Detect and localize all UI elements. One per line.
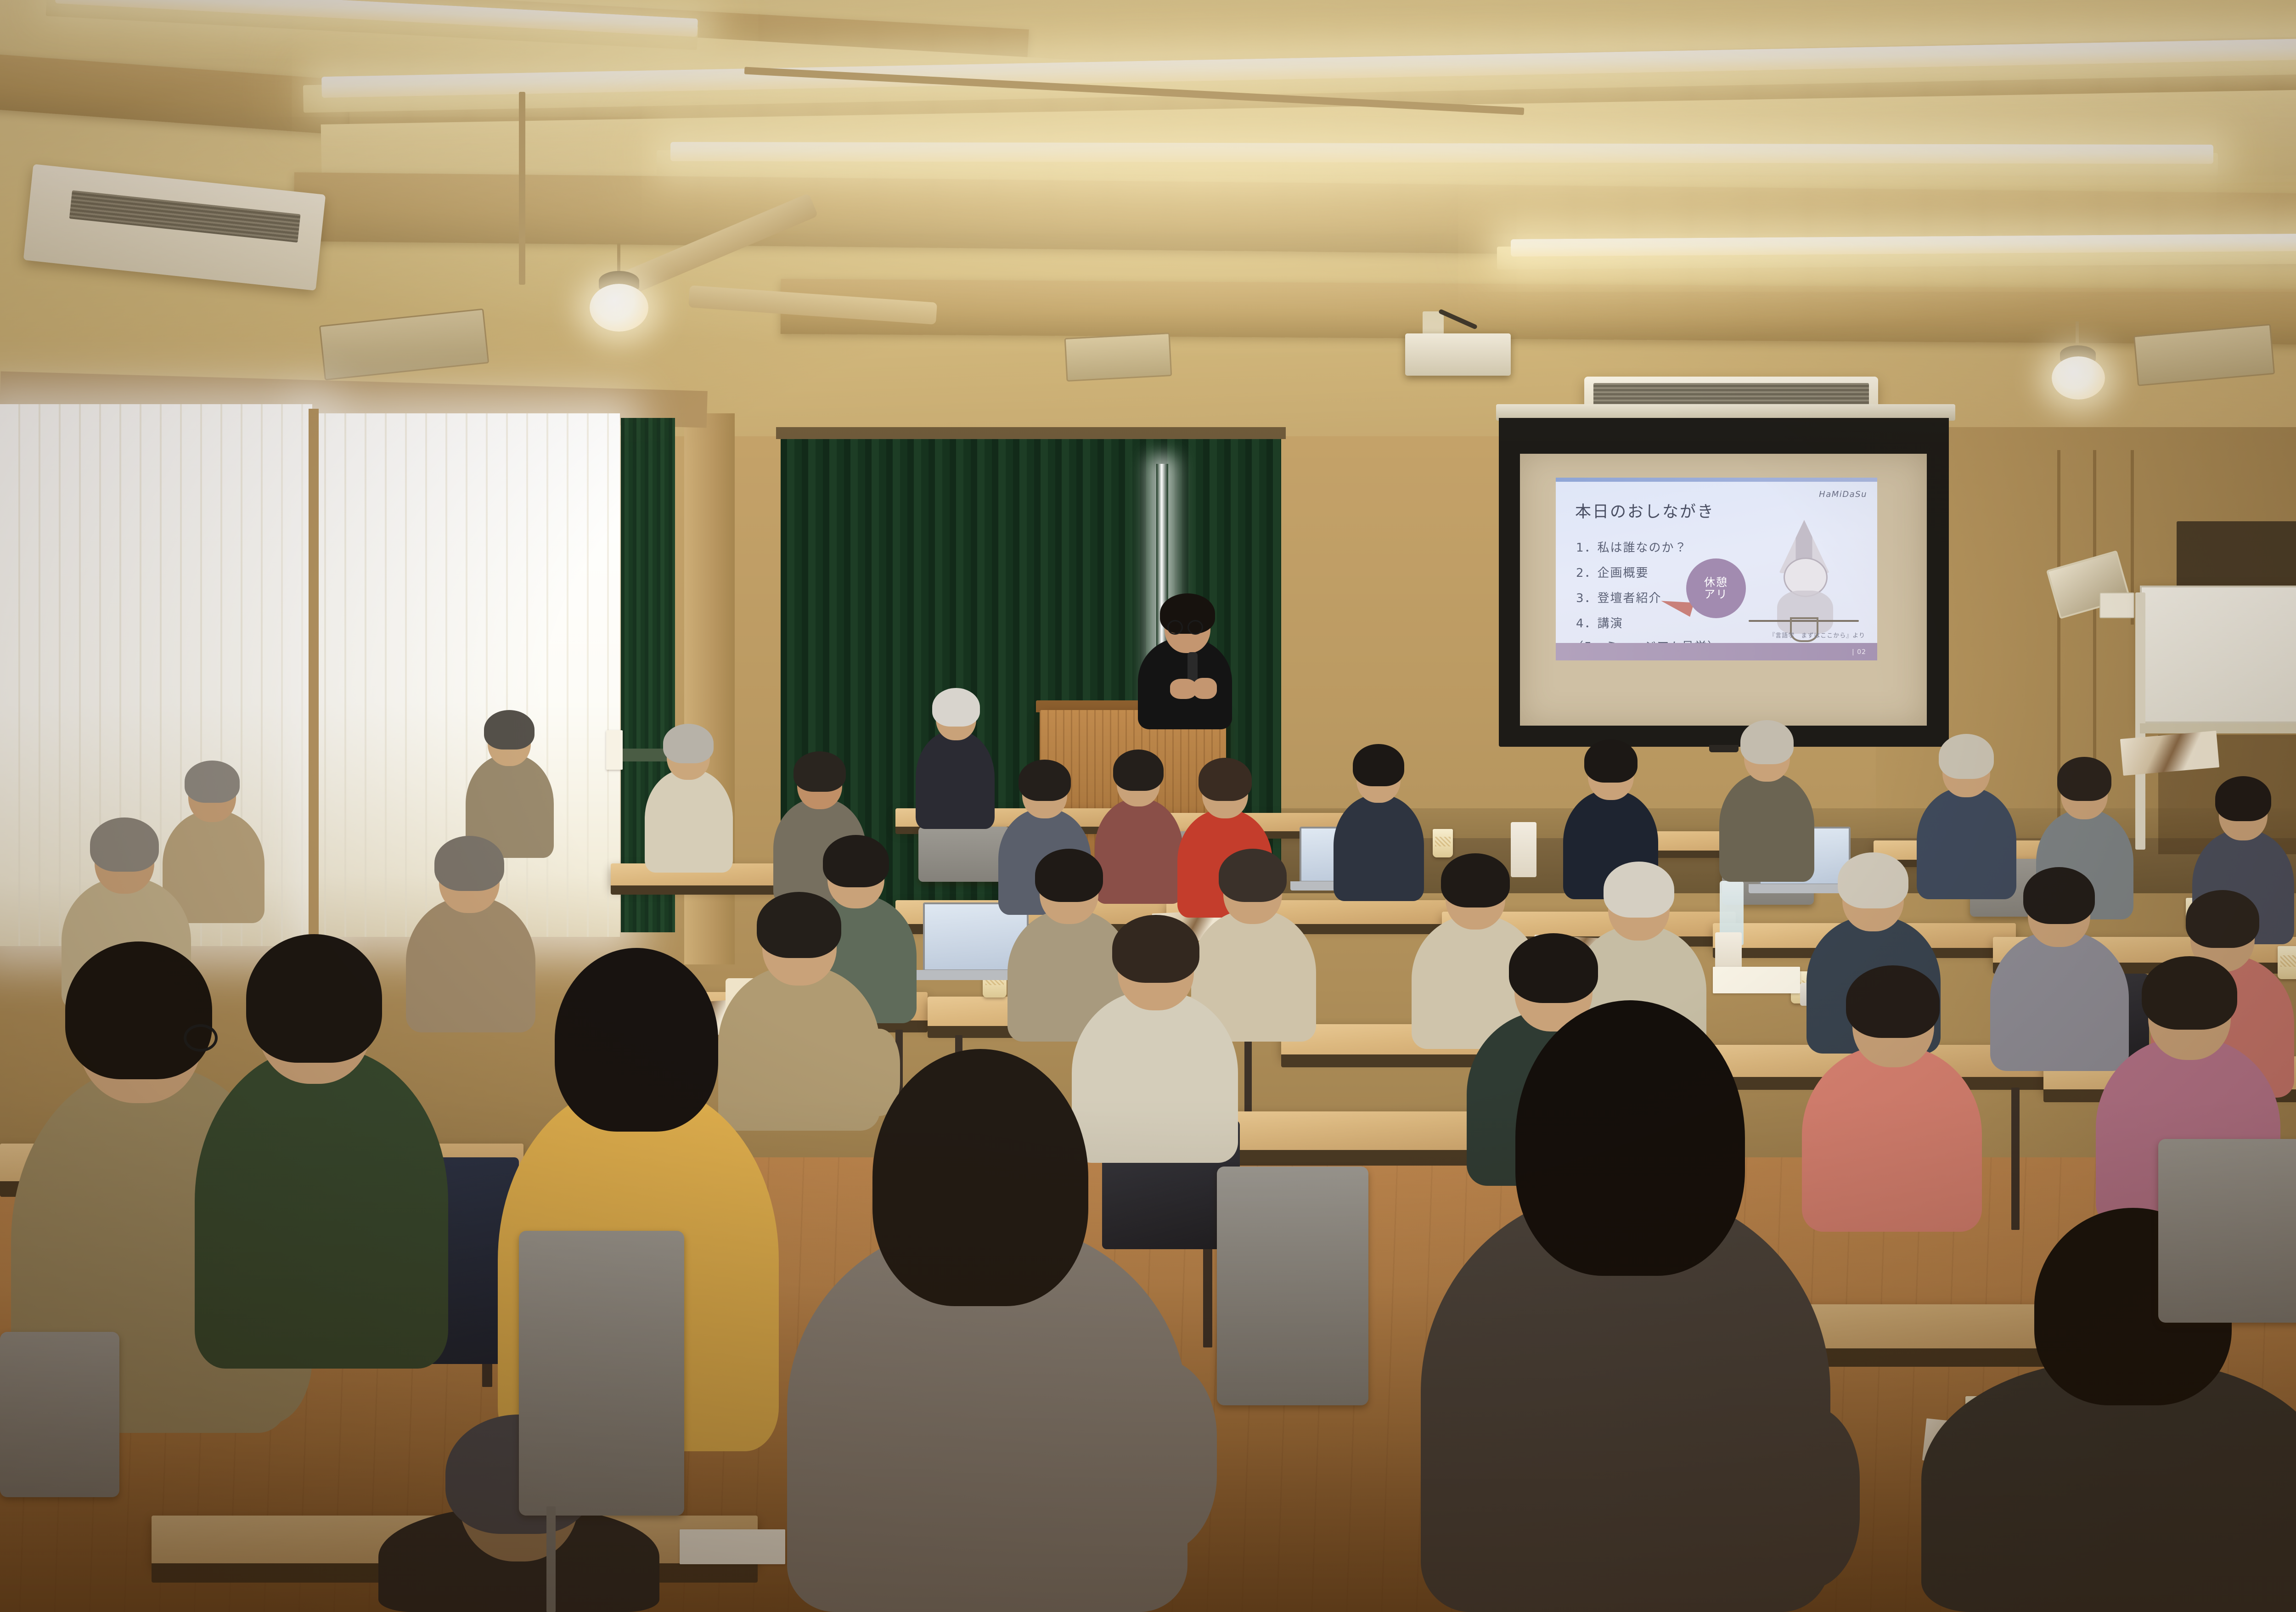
presenter-glasses-left xyxy=(1167,620,1183,635)
ceiling-projector xyxy=(1405,333,1511,376)
attendee-back-14-hair xyxy=(2215,776,2271,821)
attendee-back-11-torso xyxy=(1719,772,1814,882)
attendee-front-2-hair xyxy=(1112,915,1199,983)
note-paper-3[interactable] xyxy=(680,1529,785,1564)
attendee-back-6-hair xyxy=(1019,760,1071,801)
attendee-back-5-hair xyxy=(793,751,846,792)
pendant-rod-2 xyxy=(2076,321,2079,349)
chair-left-empty[interactable] xyxy=(0,1332,119,1497)
ceiling-conduit-1 xyxy=(519,92,525,285)
attendee-mid-4-hair xyxy=(1035,849,1103,902)
attendee-back-9-hair xyxy=(1353,744,1404,786)
attendee-near-center-arm xyxy=(1079,1359,1217,1552)
attendee-back-3 xyxy=(643,716,735,868)
attendee-mid-8-hair xyxy=(1838,852,1908,908)
speech-bubble: 休憩 アリ xyxy=(1686,558,1746,618)
ac-vent xyxy=(69,190,301,242)
attendee-mid-9-hair xyxy=(2023,867,2095,924)
window-mullion xyxy=(309,409,319,937)
presenter-glasses-right xyxy=(1187,620,1203,635)
attendee-mid-7-hair xyxy=(1604,862,1674,918)
attendee-near-left-green-torso xyxy=(195,1047,448,1369)
slide-page-number: | 02 xyxy=(1852,648,1866,656)
attendee-back-1 xyxy=(914,680,996,827)
presenter-hand-right xyxy=(1193,678,1217,699)
attendee-back-2-hair xyxy=(484,710,535,750)
attendee-near-right-arm xyxy=(1731,1405,1860,1589)
slide-item-1: 1．私は誰なのか？ xyxy=(1576,538,1760,555)
attendee-near-left-green-hair xyxy=(246,934,382,1063)
attendee-back-10-hair xyxy=(1584,739,1638,783)
attendee-back-12-hair xyxy=(1939,734,1994,779)
attendee-back-4-hair xyxy=(185,761,240,803)
slide-item-4: 4．講演 xyxy=(1576,614,1760,631)
attendee-near-bottom-right-arm xyxy=(2213,1460,2296,1612)
attendee-back-8-hair xyxy=(1199,758,1252,801)
attendee-back-3-hair xyxy=(663,724,714,763)
attendee-back-1-hair xyxy=(932,688,980,727)
attendee-front-5-hair xyxy=(2142,956,2237,1030)
attendee-near-left-hair xyxy=(65,941,212,1079)
chair-foreground-1[interactable] xyxy=(519,1231,684,1516)
attendee-near-yellow-hair xyxy=(555,948,718,1132)
attendee-near-center xyxy=(785,1038,1189,1612)
chair-foreground-2[interactable] xyxy=(1217,1167,1368,1405)
stage-curtain-rod xyxy=(776,427,1286,439)
note-paper-2[interactable] xyxy=(1713,967,1800,993)
whiteboard-tray xyxy=(2140,723,2296,733)
attendee-back-7-hair xyxy=(1113,750,1164,791)
slide-logo: HaMiDaSu xyxy=(1819,490,1867,499)
projection-screen-canvas: HaMiDaSu 本日のおしながき 1．私は誰なのか？ 2．企画概要 3．登壇者… xyxy=(1520,454,1927,726)
pendant-globe-lamp xyxy=(590,284,648,332)
light-switch-plate xyxy=(2099,592,2134,618)
lecture-hall-photo: HaMiDaSu 本日のおしながき 1．私は誰なのか？ 2．企画概要 3．登壇者… xyxy=(0,0,2296,1612)
chair-right-empty[interactable] xyxy=(2158,1139,2296,1323)
attendee-back-13-hair xyxy=(2057,757,2111,801)
attendee-mid-10-hair xyxy=(2186,890,2259,948)
bubble-line-1: 休憩 xyxy=(1704,576,1728,588)
attendee-near-right xyxy=(1419,992,1832,1612)
attendee-mid-2-hair xyxy=(434,836,504,891)
attendee-back-11-hair xyxy=(1740,720,1794,764)
presentation-slide: HaMiDaSu 本日のおしながき 1．私は誰なのか？ 2．企画概要 3．登壇者… xyxy=(1556,478,1877,660)
attendee-near-center-hair xyxy=(872,1049,1088,1306)
attendee-near-right-hair xyxy=(1515,1000,1745,1276)
attendee-front-4-hair xyxy=(1846,965,1940,1038)
projection-screen-assembly: HaMiDaSu 本日のおしながき 1．私は誰なのか？ 2．企画概要 3．登壇者… xyxy=(1482,404,1969,753)
window-notice xyxy=(606,730,623,770)
presenter xyxy=(1134,583,1240,721)
attendee-back-3-torso xyxy=(645,769,733,873)
slide-top-bar xyxy=(1556,478,1877,482)
pendant-globe-lamp-2 xyxy=(2052,356,2105,400)
attendee-mid-1-hair xyxy=(90,817,159,872)
attendee-mid-5-hair xyxy=(1219,849,1287,902)
attendee-mid-6-hair xyxy=(1441,853,1510,907)
slide-credit: 『言語学 まずはここから』より xyxy=(1769,631,1865,639)
slide-title: 本日のおしながき xyxy=(1575,499,1715,522)
attendee-back-1-torso xyxy=(916,730,995,829)
mascot-illustration xyxy=(1757,520,1853,639)
attendee-mid-3-hair xyxy=(823,835,889,887)
fluorescent-strip-light-3 xyxy=(670,142,2213,164)
slide-footer-bar xyxy=(1556,643,1877,660)
whiteboard-stand xyxy=(2135,592,2145,850)
chair-foreground-1-leg xyxy=(546,1506,556,1612)
whiteboard[interactable] xyxy=(2140,586,2296,723)
attendee-near-left-green xyxy=(193,928,450,1369)
attendee-back-11 xyxy=(1717,716,1816,877)
ceiling-speaker-center xyxy=(1064,333,1172,382)
bubble-line-2: アリ xyxy=(1704,588,1728,600)
